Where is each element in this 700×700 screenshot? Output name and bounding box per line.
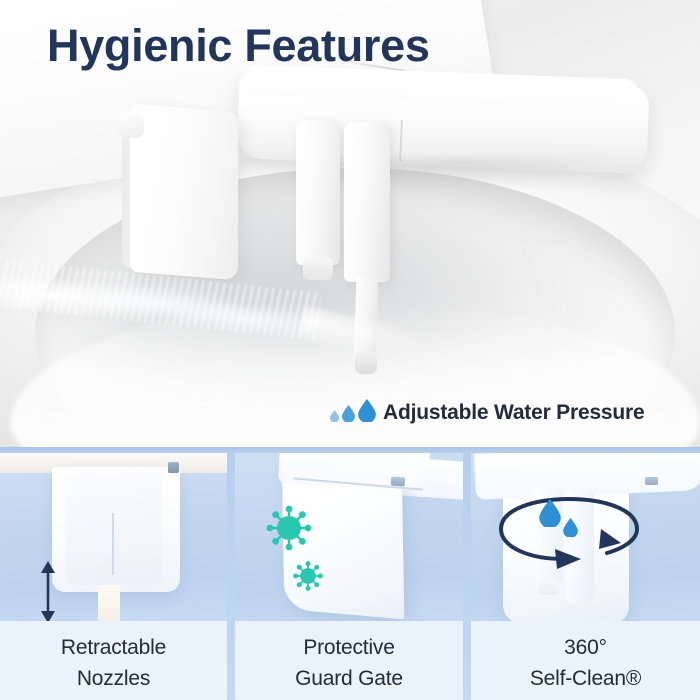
- feature-panels: Retractable Nozzles: [0, 453, 700, 700]
- nozzle-secondary: [344, 122, 390, 282]
- feature-panel-retractable-nozzles[interactable]: Retractable Nozzles: [0, 453, 227, 700]
- self-clean-nozzle-a-cap: [539, 579, 559, 595]
- water-drop-large-icon: [358, 399, 376, 422]
- nozzle-primary-cap: [303, 258, 333, 280]
- water-drops-icon: [330, 399, 376, 425]
- nozzle-primary: [296, 120, 340, 265]
- hero-caption: Adjustable Water Pressure: [330, 399, 644, 425]
- panel-caption-retractable-nozzles: Retractable Nozzles: [0, 621, 227, 700]
- hero-caption-text: Adjustable Water Pressure: [383, 401, 644, 425]
- guard-gate-tab: [118, 112, 144, 138]
- germ-icon: [266, 505, 312, 551]
- guard-gate-plate: [130, 104, 238, 280]
- guard-gate-clip: [391, 477, 406, 487]
- infographic-page: Hygienic Features Adjustable Water Press…: [0, 0, 700, 700]
- housing-clip: [168, 462, 179, 473]
- caption-line-1: Protective: [303, 632, 394, 663]
- self-clean-nozzle-photo: [471, 453, 700, 621]
- caption-line-1: 360°: [564, 632, 607, 663]
- guard-gate-photo: [235, 453, 463, 621]
- water-drop-small-icon: [563, 518, 578, 537]
- panel-caption-protective-guard-gate: Protective Guard Gate: [235, 621, 463, 700]
- caption-line-2: Nozzles: [77, 663, 150, 694]
- nozzle-housing-seam: [112, 513, 114, 575]
- self-clean-clip: [645, 477, 658, 485]
- panel-gutter-1: [227, 453, 235, 700]
- nozzle-housing-inner: [66, 475, 162, 585]
- retractable-nozzle-photo: [0, 453, 227, 621]
- feature-panel-protective-guard-gate[interactable]: Protective Guard Gate: [235, 453, 463, 700]
- water-drop-medium-icon: [342, 405, 355, 422]
- hero-section: Hygienic Features Adjustable Water Press…: [0, 0, 700, 447]
- caption-line-2: Self-Clean®: [530, 663, 641, 694]
- water-drop-small-icon: [330, 410, 339, 422]
- feature-panel-360-self-clean[interactable]: 360° Self-Clean®: [471, 453, 700, 700]
- panel-gutter-2: [463, 453, 471, 700]
- caption-line-1: Retractable: [61, 632, 166, 663]
- germ-icon-small: [293, 561, 323, 591]
- page-title: Hygienic Features: [47, 20, 430, 72]
- water-drop-large-icon: [539, 499, 561, 527]
- caption-line-2: Guard Gate: [295, 663, 403, 694]
- panel-caption-360-self-clean: 360° Self-Clean®: [471, 621, 700, 700]
- vertical-double-arrow-icon: [38, 561, 58, 621]
- extended-nozzle: [98, 585, 120, 621]
